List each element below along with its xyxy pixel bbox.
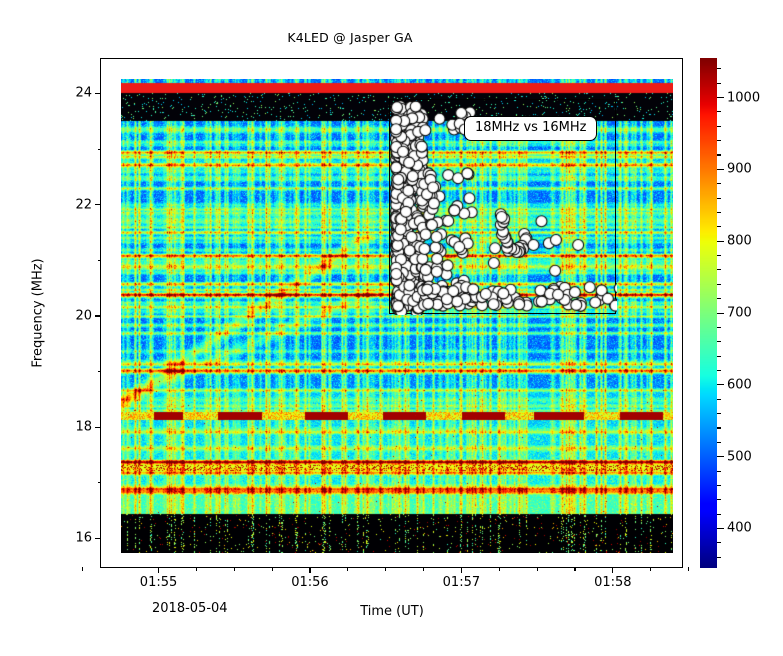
x-tick-label: 01:58: [594, 575, 631, 590]
x-tick-minor: [574, 567, 575, 571]
y-tick-label: 22: [75, 197, 92, 212]
colorbar-tick-minor: [717, 370, 721, 371]
colorbar-tick-minor: [717, 255, 721, 256]
colorbar-tick-label: 800: [727, 234, 752, 249]
y-tick-label: 16: [75, 531, 92, 546]
y-tick-minor: [98, 371, 102, 372]
colorbar-tick-major: [717, 313, 724, 314]
x-tick-minor: [385, 567, 386, 571]
colorbar-tick-minor: [717, 226, 721, 227]
y-tick-major: [95, 427, 101, 428]
colorbar-tick-label: 1000: [727, 90, 760, 105]
colorbar-tick-minor: [717, 413, 721, 414]
colorbar-tick-label: 500: [727, 449, 752, 464]
y-tick-minor: [98, 260, 102, 261]
x-tick-label: 01:57: [443, 575, 480, 590]
colorbar-tick-minor: [717, 557, 721, 558]
legend-label: 18MHz vs 16MHz: [475, 120, 586, 135]
x-axis-date-label: 2018-05-04: [152, 601, 228, 616]
colorbar-tick-minor: [717, 198, 721, 199]
colorbar-tick-major: [717, 384, 724, 385]
y-tick-label: 20: [75, 308, 92, 323]
colorbar-tick-label: 700: [727, 306, 752, 321]
y-tick-minor: [98, 149, 102, 150]
spectrogram-image: [121, 79, 673, 553]
colorbar-tick-minor: [717, 111, 721, 112]
x-tick-minor: [272, 567, 273, 571]
x-tick-minor: [196, 567, 197, 571]
colorbar-tick-minor: [717, 327, 721, 328]
legend-box[interactable]: 18MHz vs 16MHz: [464, 116, 597, 141]
colorbar-tick-minor: [717, 140, 721, 141]
colorbar-tick-minor: [717, 442, 721, 443]
colorbar-tick-minor: [717, 269, 721, 270]
x-tick-minor: [499, 567, 500, 571]
colorbar-tick-minor: [717, 399, 721, 400]
x-tick-major: [309, 567, 310, 573]
colorbar-tick-minor: [717, 356, 721, 357]
x-tick-label: 01:55: [140, 575, 177, 590]
x-tick-minor: [650, 567, 651, 571]
x-tick-major: [158, 567, 159, 573]
colorbar-tick-minor: [717, 485, 721, 486]
colorbar-tick-major: [717, 97, 724, 98]
x-tick-major: [461, 567, 462, 573]
x-tick-minor: [234, 567, 235, 571]
colorbar-tick-minor: [717, 298, 721, 299]
page-title: K4LED @ Jasper GA: [0, 30, 700, 45]
colorbar-tick-minor: [717, 212, 721, 213]
x-axis-title: Time (UT): [360, 604, 424, 619]
x-tick-minor: [423, 567, 424, 571]
colorbar-tick-major: [717, 241, 724, 242]
x-tick-minor: [537, 567, 538, 571]
colorbar-tick-minor: [717, 154, 721, 155]
x-tick-minor: [347, 567, 348, 571]
colorbar-tick-minor: [717, 83, 721, 84]
colorbar[interactable]: 4005006007008009001000: [700, 58, 717, 568]
y-tick-major: [95, 204, 101, 205]
spectrogram-axes[interactable]: 18MHz vs 16MHz 161820222401:5501:5601:57…: [100, 58, 683, 568]
colorbar-tick-minor: [717, 471, 721, 472]
colorbar-tick-major: [717, 169, 724, 170]
y-tick-major: [95, 93, 101, 94]
x-tick-minor: [82, 567, 83, 571]
y-axis-title: Frequency (MHz): [31, 258, 46, 367]
figure-root: K4LED @ Jasper GA 18MHz vs 16MHz 1618202…: [0, 0, 783, 656]
colorbar-tick-minor: [717, 341, 721, 342]
y-tick-minor: [98, 482, 102, 483]
colorbar-tick-minor: [717, 183, 721, 184]
colorbar-tick-label: 600: [727, 377, 752, 392]
y-tick-major: [95, 538, 101, 539]
colorbar-tick-major: [717, 528, 724, 529]
colorbar-gradient: [700, 58, 717, 568]
y-tick-label: 24: [75, 86, 92, 101]
x-tick-label: 01:56: [291, 575, 328, 590]
colorbar-tick-minor: [717, 126, 721, 127]
y-tick-major: [95, 315, 101, 316]
x-tick-major: [612, 567, 613, 573]
colorbar-tick-minor: [717, 542, 721, 543]
colorbar-tick-minor: [717, 427, 721, 428]
colorbar-tick-major: [717, 456, 724, 457]
y-tick-label: 18: [75, 420, 92, 435]
colorbar-tick-minor: [717, 514, 721, 515]
colorbar-tick-label: 400: [727, 521, 752, 536]
colorbar-tick-minor: [717, 284, 721, 285]
colorbar-tick-minor: [717, 499, 721, 500]
colorbar-tick-minor: [717, 68, 721, 69]
colorbar-tick-label: 900: [727, 162, 752, 177]
x-tick-minor: [688, 567, 689, 571]
